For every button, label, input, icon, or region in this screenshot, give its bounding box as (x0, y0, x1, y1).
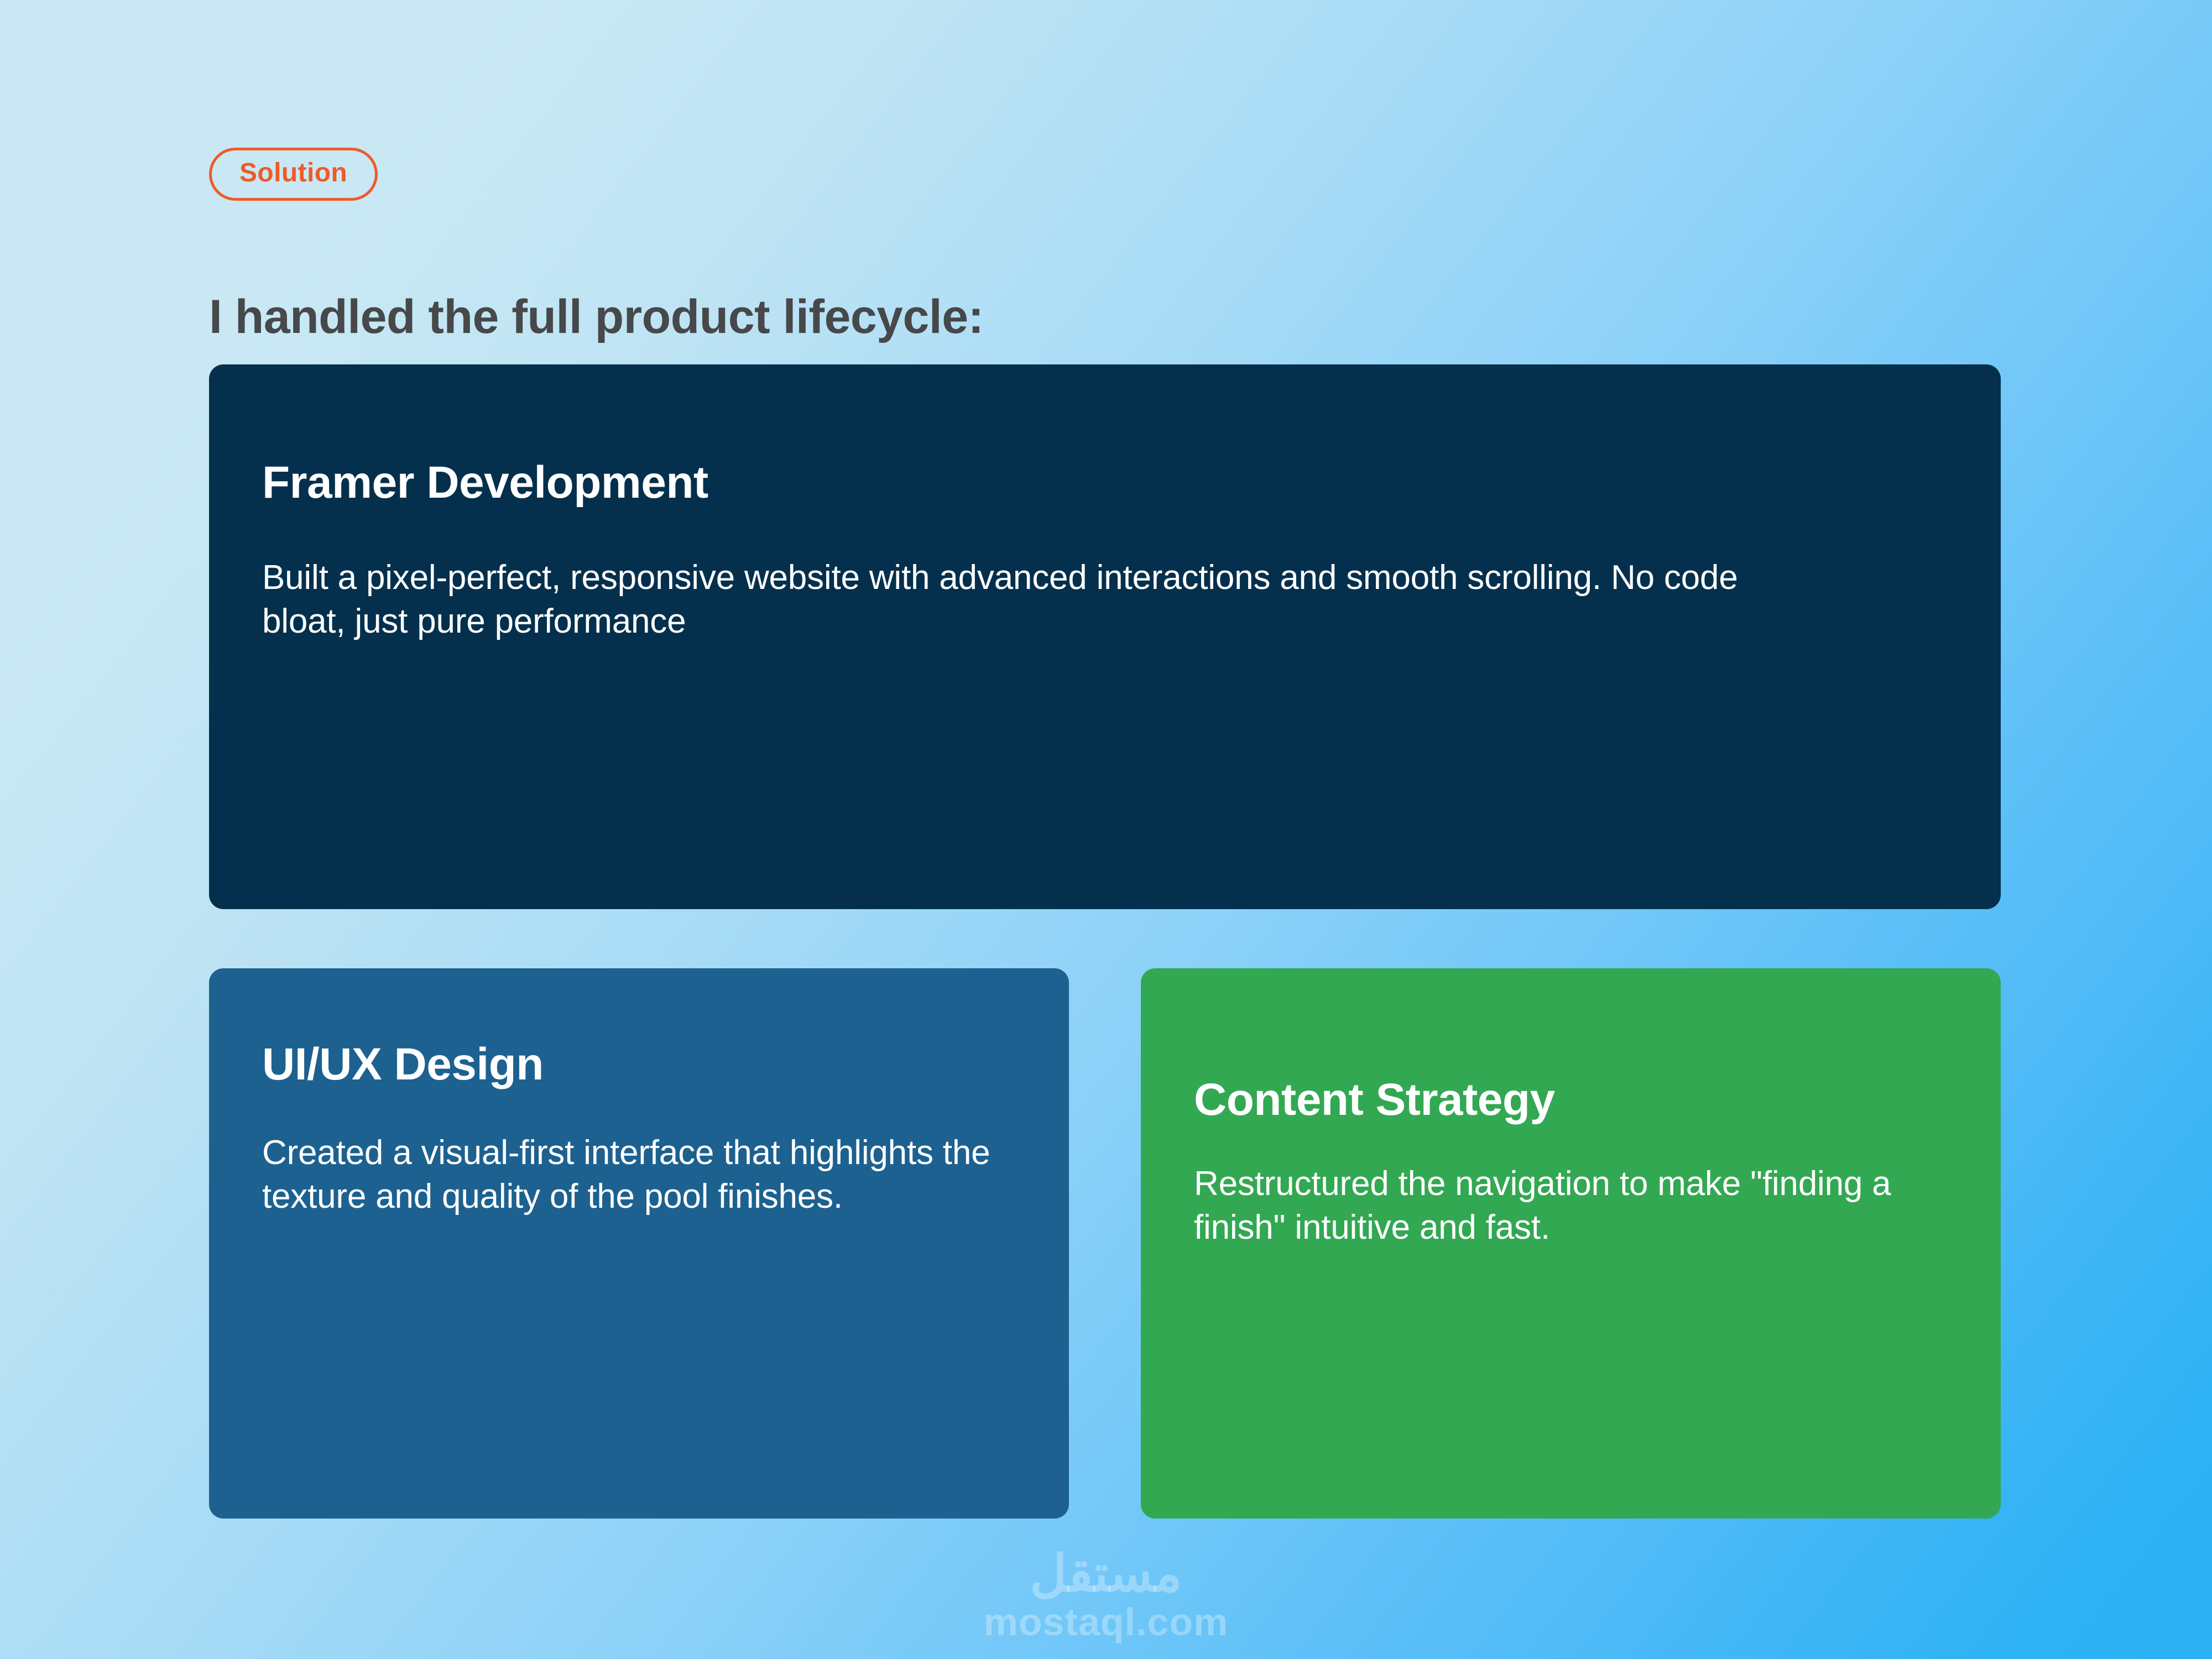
slide-canvas: Solution I handled the full product life… (0, 0, 2212, 1659)
card-title-content-strategy: Content Strategy (1194, 1074, 1948, 1125)
card-uiux-design: UI/UX Design Created a visual-first inte… (209, 968, 1069, 1519)
solution-badge: Solution (209, 148, 378, 201)
content-region: Solution I handled the full product life… (209, 0, 2001, 1659)
card-body-content-strategy: Restructured the navigation to make "fin… (1194, 1162, 1948, 1250)
card-body-framer-development: Built a pixel-perfect, responsive websit… (262, 556, 1766, 644)
card-title-uiux-design: UI/UX Design (262, 1039, 1016, 1090)
card-body-uiux-design: Created a visual-first interface that hi… (262, 1131, 1016, 1219)
page-title: I handled the full product lifecycle: (209, 291, 984, 343)
badge-row: Solution (209, 148, 378, 201)
card-content-strategy: Content Strategy Restructured the naviga… (1141, 968, 2001, 1519)
card-title-framer-development: Framer Development (262, 457, 1948, 508)
card-framer-development: Framer Development Built a pixel-perfect… (209, 364, 2001, 909)
